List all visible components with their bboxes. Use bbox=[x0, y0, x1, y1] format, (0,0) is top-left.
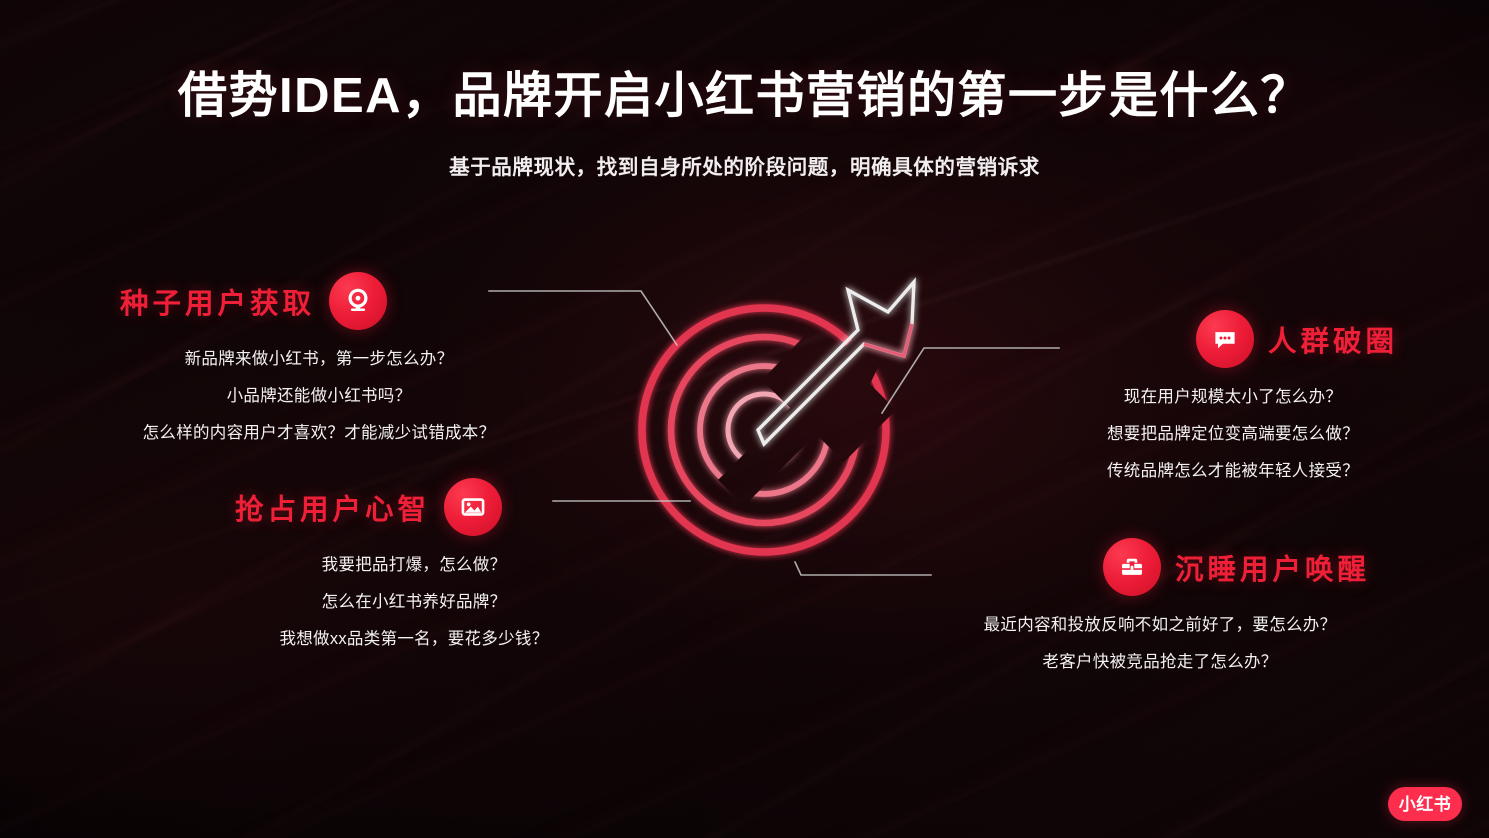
page-subtitle: 基于品牌现状，找到自身所处的阶段问题，明确具体的营销诉求 bbox=[0, 150, 1489, 180]
block-header-dormant: 沉睡用户唤醒 bbox=[954, 538, 1370, 596]
block-header-mindshare: 抢占用户心智 bbox=[235, 478, 589, 536]
block-title: 沉睡用户唤醒 bbox=[1175, 547, 1370, 588]
list-item: 老客户快被竞品抢走了怎么办？ bbox=[1042, 653, 1277, 673]
block-title: 种子用户获取 bbox=[120, 281, 315, 322]
logo-text: 小红书 bbox=[1399, 796, 1452, 813]
block-lines-seed: 新品牌来做小红书，第一步怎么办？ 小品牌还能做小红书吗？ 怎么样的内容用户才喜欢… bbox=[129, 350, 509, 443]
list-item: 我想做xx品类第一名，要花多少钱？ bbox=[279, 630, 548, 650]
info-block-breakout: 人群破圈 现在用户规模太小了怎么办？ 想要把品牌定位变高端要怎么做？ 传统品牌怎… bbox=[1076, 310, 1398, 481]
block-lines-dormant: 最近内容和投放反响不如之前好了，要怎么办？ 老客户快被竞品抢走了怎么办？ bbox=[950, 616, 1370, 673]
list-item: 现在用户规模太小了怎么办？ bbox=[1124, 388, 1342, 408]
slide-canvas: 借势IDEA，品牌开启小红书营销的第一步是什么？ 基于品牌现状，找到自身所处的阶… bbox=[0, 0, 1489, 838]
info-block-seed: 种子用户获取 新品牌来做小红书，第一步怎么办？ 小品牌还能做小红书吗？ 怎么样的… bbox=[120, 272, 509, 443]
block-lines-mindshare: 我要把品打爆，怎么做？ 怎么在小红书养好品牌？ 我想做xx品类第一名，要花多少钱… bbox=[239, 556, 589, 649]
list-item: 小品牌还能做小红书吗？ bbox=[227, 387, 412, 407]
list-item: 怎么在小红书养好品牌？ bbox=[322, 593, 507, 613]
list-item: 新品牌来做小红书，第一步怎么办？ bbox=[185, 350, 454, 370]
block-header-breakout: 人群破圈 bbox=[1076, 310, 1398, 368]
list-item: 想要把品牌定位变高端要怎么做？ bbox=[1107, 425, 1359, 445]
info-block-mindshare: 抢占用户心智 我要把品打爆，怎么做？ 怎么在小红书养好品牌？ 我想做xx品类第一… bbox=[235, 478, 589, 649]
image-icon bbox=[444, 478, 502, 536]
list-item: 我要把品打爆，怎么做？ bbox=[322, 556, 507, 576]
chat-bubble-icon bbox=[1196, 310, 1254, 368]
slide-header: 借势IDEA，品牌开启小红书营销的第一步是什么？ 基于品牌现状，找到自身所处的阶… bbox=[0, 68, 1489, 180]
list-item: 最近内容和投放反响不如之前好了，要怎么办？ bbox=[984, 616, 1337, 636]
list-item: 传统品牌怎么才能被年轻人接受？ bbox=[1107, 462, 1359, 482]
page-title: 借势IDEA，品牌开启小红书营销的第一步是什么？ bbox=[0, 68, 1489, 124]
block-title: 抢占用户心智 bbox=[235, 487, 430, 528]
webcam-icon bbox=[329, 272, 387, 330]
toolbox-icon bbox=[1103, 538, 1161, 596]
block-title: 人群破圈 bbox=[1268, 319, 1398, 360]
list-item: 怎么样的内容用户才喜欢？才能减少试错成本？ bbox=[143, 424, 496, 444]
block-lines-breakout: 现在用户规模太小了怎么办？ 想要把品牌定位变高端要怎么做？ 传统品牌怎么才能被年… bbox=[1068, 388, 1398, 481]
info-block-dormant: 沉睡用户唤醒 最近内容和投放反响不如之前好了，要怎么办？ 老客户快被竞品抢走了怎… bbox=[954, 538, 1370, 673]
target-with-dart-icon bbox=[612, 252, 942, 582]
xiaohongshu-logo: 小红书 bbox=[1388, 787, 1462, 821]
block-header-seed: 种子用户获取 bbox=[120, 272, 509, 330]
